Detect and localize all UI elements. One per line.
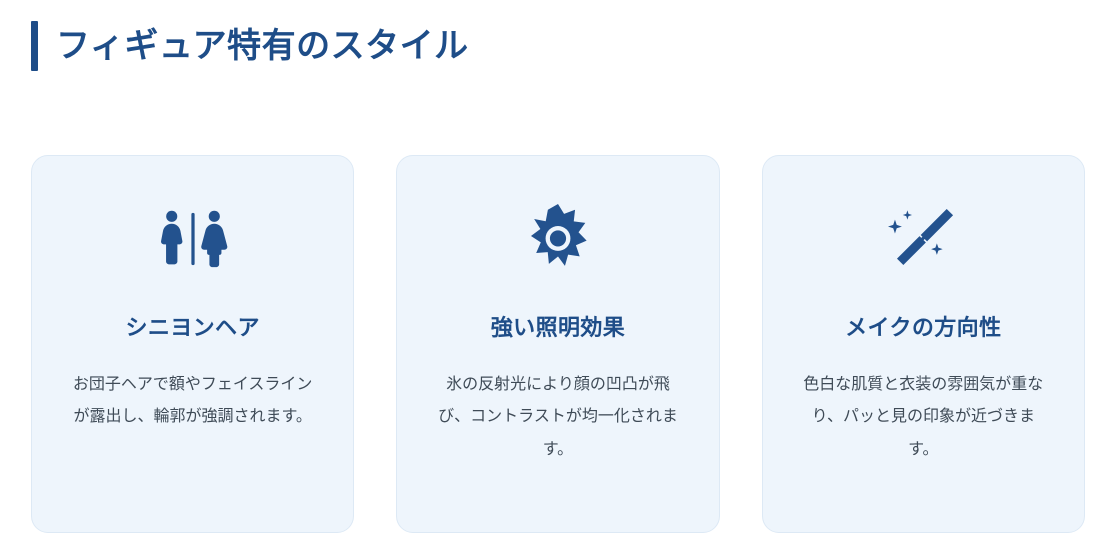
feature-card-title: 強い照明効果	[491, 314, 625, 343]
feature-card[interactable]: シニヨンヘア お団子ヘアで額やフェイスラインが露出し、輪郭が強調されます。	[31, 155, 354, 533]
feature-card-body: 氷の反射光により顔の凹凸が飛び、コントラストが均一化されます。	[435, 369, 681, 467]
heading-accent-bar	[31, 21, 38, 71]
magic-wand-icon	[886, 202, 960, 276]
page-heading: フィギュア特有のスタイル	[31, 18, 469, 74]
feature-card-list: シニヨンヘア お団子ヘアで額やフェイスラインが露出し、輪郭が強調されます。 強い…	[31, 155, 1085, 533]
feature-card[interactable]: メイクの方向性 色白な肌質と衣装の雰囲気が重なり、パッと見の印象が近づきます。	[762, 155, 1085, 533]
feature-card-title: シニヨンヘア	[125, 314, 259, 343]
sun-icon	[521, 202, 595, 276]
feature-card[interactable]: 強い照明効果 氷の反射光により顔の凹凸が飛び、コントラストが均一化されます。	[396, 155, 719, 533]
feature-card-title: メイクの方向性	[845, 314, 1001, 343]
page-title: フィギュア特有のスタイル	[56, 29, 469, 63]
page-root: フィギュア特有のスタイル シニヨンヘア お団子ヘア	[0, 0, 1113, 556]
feature-card-body: 色白な肌質と衣装の雰囲気が重なり、パッと見の印象が近づきます。	[800, 369, 1046, 467]
restroom-icon	[156, 202, 230, 276]
feature-card-body: お団子ヘアで額やフェイスラインが露出し、輪郭が強調されます。	[70, 369, 316, 435]
